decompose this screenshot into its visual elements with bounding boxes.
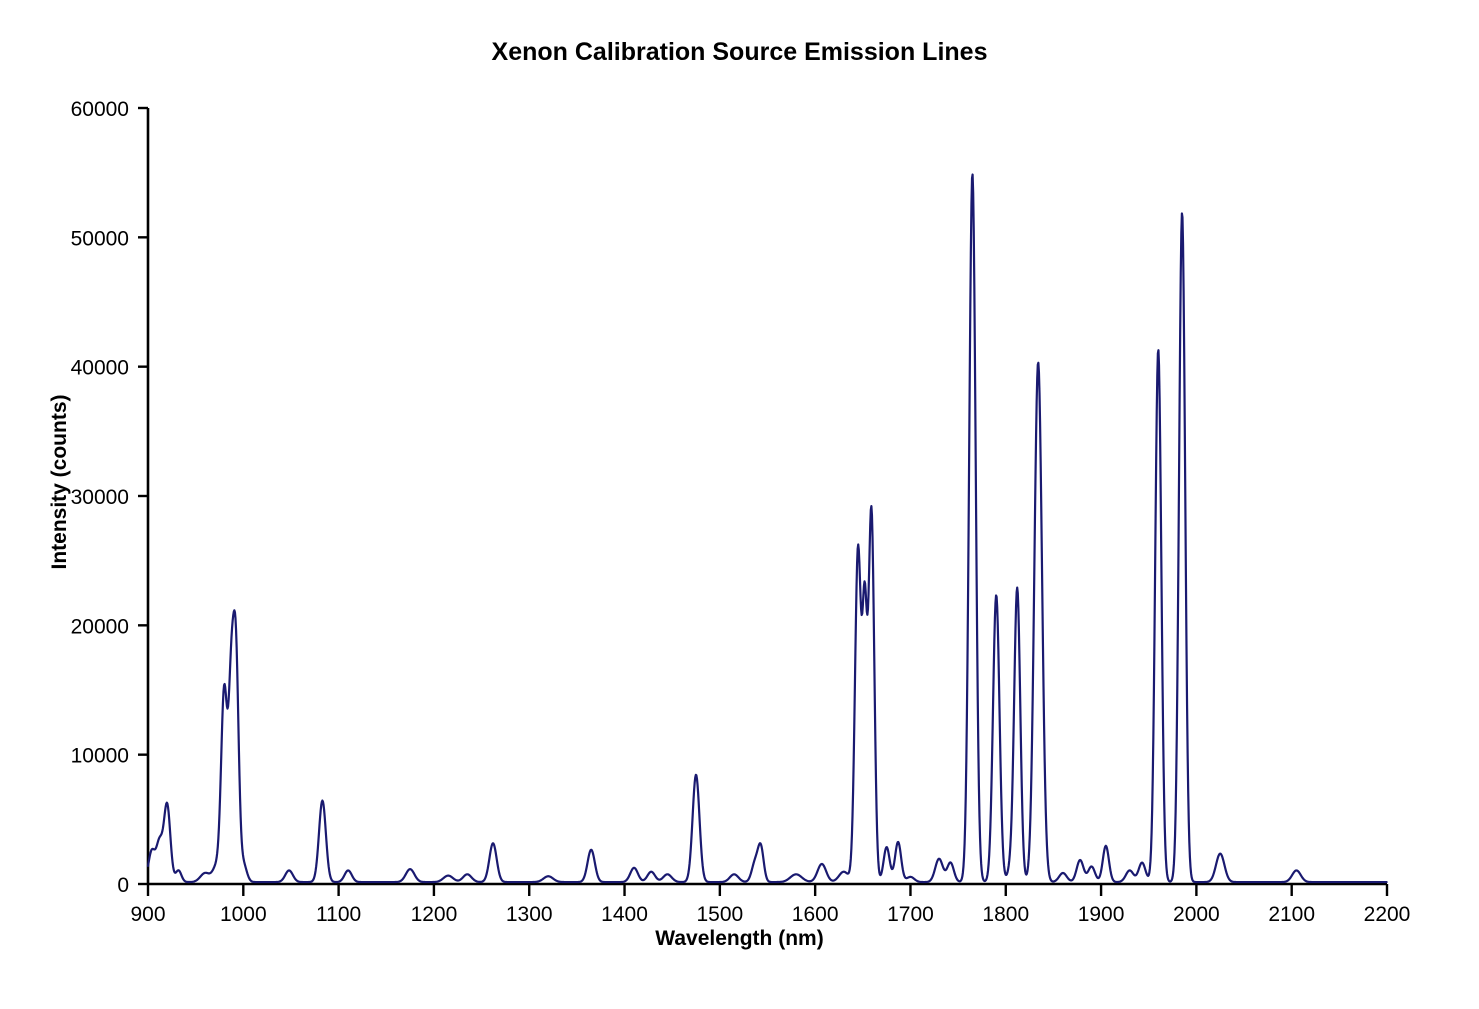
spectrum-trace [148, 175, 1387, 883]
x-tick-label: 1200 [411, 903, 458, 926]
y-tick-label: 40000 [71, 357, 129, 380]
x-tick-label: 1700 [887, 903, 934, 926]
x-tick-label: 2000 [1173, 903, 1220, 926]
y-tick-label: 20000 [71, 615, 129, 638]
spectrum-plot: 0100002000030000400005000060000 90010001… [0, 0, 1479, 1009]
x-tick-label: 1400 [601, 903, 648, 926]
x-tick-label: 900 [130, 903, 165, 926]
x-tick-label: 1000 [220, 903, 267, 926]
x-tick-label: 1900 [1078, 903, 1125, 926]
y-axis-label: Intensity (counts) [48, 302, 72, 662]
y-tick-label: 50000 [71, 227, 129, 250]
x-axis-ticks: 9001000110012001300140015001600170018001… [130, 884, 1410, 926]
x-axis-label: Wavelength (nm) [0, 927, 1479, 951]
x-tick-label: 2200 [1364, 903, 1411, 926]
chart-figure: Xenon Calibration Source Emission Lines … [0, 0, 1479, 1009]
x-tick-label: 1800 [982, 903, 1029, 926]
x-tick-label: 1100 [316, 903, 361, 926]
y-tick-label: 60000 [71, 98, 129, 121]
y-tick-label: 10000 [71, 745, 129, 768]
x-tick-label: 1500 [696, 903, 743, 926]
y-axis-ticks: 0100002000030000400005000060000 [71, 98, 148, 897]
y-tick-label: 30000 [71, 486, 129, 509]
x-tick-label: 1600 [792, 903, 839, 926]
x-tick-label: 1300 [506, 903, 553, 926]
y-tick-label: 0 [117, 874, 129, 897]
x-tick-label: 2100 [1268, 903, 1315, 926]
